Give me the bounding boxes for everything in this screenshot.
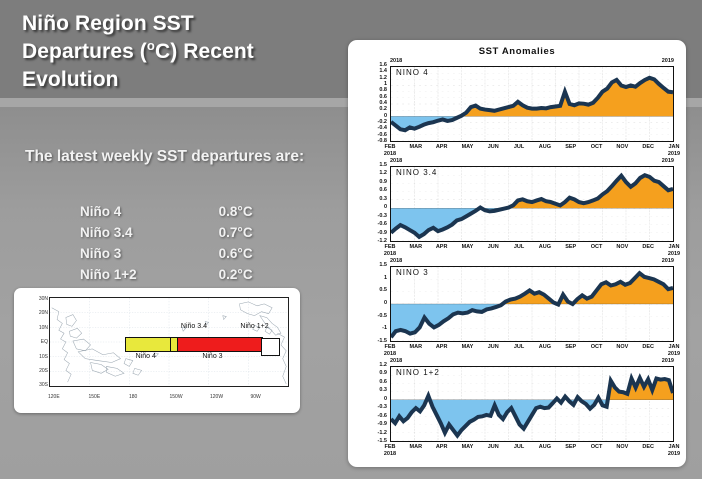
x-tick-month: DEC: [642, 144, 654, 150]
y-tick-label: -0.3: [360, 214, 387, 220]
map-inner: Niño 3.4 Niño 1+2 Niño 4 Niño 3 30N20N10…: [22, 295, 292, 405]
map-y-tick: 20S: [22, 368, 48, 374]
x-tick-month: NOV: [616, 344, 628, 350]
x-tick-label: APR: [431, 244, 453, 251]
x-tick-month: JAN: [668, 244, 679, 250]
x-tick-month: APR: [436, 244, 448, 250]
x-tick-label: NOV: [611, 444, 633, 451]
chart-panel-1: 20182019NINO 3.41.51.20.90.60.30-0.3-0.6…: [360, 158, 676, 260]
x-tick-label: AUG: [534, 244, 556, 251]
x-tick-label: OCT: [586, 344, 608, 351]
map-y-tick: EQ: [22, 339, 48, 345]
x-tick-label: MAR: [405, 144, 427, 151]
lead-text: The latest weekly SST departures are:: [25, 146, 315, 168]
departures-table: Niño 40.8°CNiño 3.40.7°CNiño 30.6°CNiño …: [80, 201, 300, 286]
y-tick-label: -1: [360, 326, 387, 332]
x-tick-month: JAN: [668, 144, 679, 150]
x-tick-label: NOV: [611, 244, 633, 251]
page-title-line3: Evolution: [22, 66, 332, 94]
x-tick-label: OCT: [586, 144, 608, 151]
map-y-tick: 20N: [22, 310, 48, 316]
x-tick-label: SEP: [560, 144, 582, 151]
panel-year-left: 2018: [390, 358, 402, 364]
x-tick-month: FEB: [385, 344, 396, 350]
x-tick-label: AUG: [534, 344, 556, 351]
x-tick-month: OCT: [591, 144, 603, 150]
y-tick-label: -0.9: [360, 422, 387, 428]
y-tick-label: 0.9: [360, 371, 387, 377]
x-tick-month: DEC: [642, 344, 654, 350]
page-title-line1: Niño Region SST: [22, 10, 332, 38]
departure-value: 0.6°C: [169, 243, 300, 264]
x-tick-label: MAY: [456, 444, 478, 451]
x-tick-label: JAN2019: [663, 244, 685, 258]
x-tick-month: JUL: [514, 244, 524, 250]
map-label-nino3: Niño 3: [202, 353, 222, 360]
x-tick-year: 2019: [663, 251, 685, 258]
y-tick-label: 0: [360, 397, 387, 403]
x-tick-year: 2019: [663, 351, 685, 358]
x-tick-year: 2018: [379, 151, 401, 158]
x-tick-month: SEP: [565, 244, 576, 250]
map-label-nino4: Niño 4: [136, 353, 156, 360]
x-tick-month: SEP: [565, 344, 576, 350]
departure-row: Niño 40.8°C: [80, 201, 300, 222]
positive-area: [480, 175, 673, 208]
slide-root: Niño Region SST Departures (oC) Recent E…: [0, 0, 702, 479]
x-tick-month: MAY: [462, 144, 474, 150]
plot-area-0: [390, 66, 674, 142]
departure-row: Niño 3.40.7°C: [80, 222, 300, 243]
y-tick-label: -0.6: [360, 222, 387, 228]
y-tick-label: 0.6: [360, 380, 387, 386]
x-tick-label: DEC: [637, 344, 659, 351]
x-tick-label: FEB2018: [379, 344, 401, 358]
x-tick-label: MAY: [456, 144, 478, 151]
map-y-tick: 30S: [22, 382, 48, 388]
page-title: Niño Region SST Departures (oC) Recent E…: [22, 10, 332, 94]
nino-region-map-card: Niño 3.4 Niño 1+2 Niño 4 Niño 3 30N20N10…: [14, 288, 300, 413]
x-tick-month: SEP: [565, 144, 576, 150]
series-label-2: NINO 3: [396, 268, 429, 277]
x-tick-month: JUN: [488, 144, 499, 150]
y-tick-label: 0.3: [360, 197, 387, 203]
map-x-tick: 150W: [170, 394, 183, 400]
x-tick-month: MAR: [410, 144, 423, 150]
x-tick-month: SEP: [565, 444, 576, 450]
x-tick-month: NOV: [616, 144, 628, 150]
x-tick-year: 2019: [663, 151, 685, 158]
x-tick-label: JAN2019: [663, 344, 685, 358]
x-tick-month: APR: [436, 144, 448, 150]
x-tick-label: APR: [431, 144, 453, 151]
x-tick-label: MAR: [405, 344, 427, 351]
map-x-tick: 90W: [251, 394, 261, 400]
plot-area-2: [390, 266, 674, 342]
y-tick-label: 0.5: [360, 288, 387, 294]
chart-panel-0: 20182019NINO 41.61.41.210.80.60.40.20-0.…: [360, 58, 676, 160]
map-y-tick: 10S: [22, 354, 48, 360]
x-tick-label: AUG: [534, 444, 556, 451]
x-tick-month: FEB: [385, 144, 396, 150]
map-label-nino34: Niño 3.4: [181, 323, 207, 330]
y-tick-label: -0.4: [360, 126, 387, 132]
panel-year-right: 2019: [662, 358, 674, 364]
map-x-tick: 180: [129, 394, 137, 400]
departure-value: 0.7°C: [169, 222, 300, 243]
map-x-tick: 120E: [48, 394, 60, 400]
x-tick-label: OCT: [586, 444, 608, 451]
x-tick-label: APR: [431, 444, 453, 451]
x-tick-label: JUL: [508, 244, 530, 251]
x-tick-year: 2019: [663, 451, 685, 458]
x-tick-label: APR: [431, 344, 453, 351]
x-tick-month: JUN: [488, 244, 499, 250]
x-tick-label: JUL: [508, 444, 530, 451]
chart-title: SST Anomalies: [348, 46, 686, 57]
x-tick-month: MAY: [462, 244, 474, 250]
page-title-line2-a: Departures (: [22, 40, 147, 63]
plot-area-3: [390, 366, 674, 442]
x-tick-year: 2018: [379, 251, 401, 258]
y-tick-label: 0.8: [360, 88, 387, 94]
x-tick-month: MAY: [462, 444, 474, 450]
y-tick-label: -0.5: [360, 314, 387, 320]
page-title-line2: Departures (oC) Recent: [22, 38, 332, 66]
x-tick-label: DEC: [637, 244, 659, 251]
chart-svg-2: [391, 267, 673, 341]
x-tick-label: JUL: [508, 144, 530, 151]
x-tick-month: JUN: [488, 344, 499, 350]
nino12-box: [261, 338, 280, 356]
x-tick-label: JUN: [482, 144, 504, 151]
x-tick-month: MAR: [410, 244, 423, 250]
departure-region: Niño 3: [80, 243, 169, 264]
sst-anomalies-chart-card: SST Anomalies 20182019NINO 41.61.41.210.…: [348, 40, 686, 467]
y-tick-label: 1.2: [360, 363, 387, 369]
departure-region: Niño 3.4: [80, 222, 169, 243]
departure-row: Niño 1+20.2°C: [80, 264, 300, 285]
y-tick-label: -1.2: [360, 431, 387, 437]
x-tick-month: NOV: [616, 444, 628, 450]
x-tick-label: JUN: [482, 444, 504, 451]
departure-region: Niño 1+2: [80, 264, 169, 285]
x-tick-month: AUG: [539, 344, 551, 350]
y-tick-label: 1.5: [360, 163, 387, 169]
x-tick-year: 2018: [379, 451, 401, 458]
x-tick-month: MAR: [410, 444, 423, 450]
nino3-box: [177, 337, 263, 352]
x-tick-label: SEP: [560, 344, 582, 351]
departures-table-body: Niño 40.8°CNiño 3.40.7°CNiño 30.6°CNiño …: [80, 201, 300, 286]
panel-year-right: 2019: [662, 58, 674, 64]
map-x-tick: 150E: [89, 394, 101, 400]
map-plot-area: Niño 3.4 Niño 1+2 Niño 4 Niño 3: [49, 297, 289, 387]
x-tick-label: JAN2019: [663, 144, 685, 158]
x-tick-month: DEC: [642, 444, 654, 450]
x-tick-label: JAN2019: [663, 444, 685, 458]
x-tick-year: 2018: [379, 351, 401, 358]
x-tick-label: SEP: [560, 244, 582, 251]
x-tick-month: FEB: [385, 444, 396, 450]
x-tick-month: JUL: [514, 344, 524, 350]
page-title-line2-b: C) Recent: [155, 40, 254, 63]
x-tick-label: NOV: [611, 144, 633, 151]
x-tick-label: MAY: [456, 344, 478, 351]
y-tick-label: 0: [360, 205, 387, 211]
x-tick-month: MAY: [462, 344, 474, 350]
y-tick-label: 0.9: [360, 180, 387, 186]
x-tick-month: AUG: [539, 244, 551, 250]
plot-area-1: [390, 166, 674, 242]
y-tick-label: 0.6: [360, 188, 387, 194]
panel-year-left: 2018: [390, 58, 402, 64]
panel-year-right: 2019: [662, 158, 674, 164]
x-tick-label: MAY: [456, 244, 478, 251]
x-tick-month: JUL: [514, 144, 524, 150]
x-tick-label: AUG: [534, 144, 556, 151]
x-tick-month: JAN: [668, 444, 679, 450]
x-tick-label: OCT: [586, 244, 608, 251]
departure-value: 0.2°C: [169, 264, 300, 285]
x-tick-label: FEB2018: [379, 444, 401, 458]
x-tick-label: JUN: [482, 244, 504, 251]
x-tick-month: APR: [436, 444, 448, 450]
degree-superscript: o: [147, 38, 155, 53]
x-tick-label: FEB2018: [379, 244, 401, 258]
departure-value: 0.8°C: [169, 201, 300, 222]
y-tick-label: 0.3: [360, 388, 387, 394]
x-tick-month: JAN: [668, 344, 679, 350]
x-tick-label: JUN: [482, 344, 504, 351]
panel-year-left: 2018: [390, 158, 402, 164]
map-label-nino12: Niño 1+2: [240, 323, 268, 330]
x-tick-month: JUL: [514, 444, 524, 450]
x-tick-month: DEC: [642, 244, 654, 250]
x-tick-label: MAR: [405, 444, 427, 451]
departure-row: Niño 30.6°C: [80, 243, 300, 264]
y-tick-label: 1: [360, 276, 387, 282]
x-tick-label: SEP: [560, 444, 582, 451]
y-tick-label: -0.3: [360, 405, 387, 411]
x-tick-label: NOV: [611, 344, 633, 351]
x-tick-month: AUG: [539, 444, 551, 450]
x-tick-month: NOV: [616, 244, 628, 250]
x-tick-month: AUG: [539, 144, 551, 150]
x-tick-label: MAR: [405, 244, 427, 251]
y-tick-label: 1.2: [360, 171, 387, 177]
y-tick-label: 1.5: [360, 263, 387, 269]
x-tick-label: DEC: [637, 444, 659, 451]
chart-svg-0: [391, 67, 673, 141]
chart-svg-1: [391, 167, 673, 241]
y-tick-label: 0: [360, 301, 387, 307]
x-tick-label: JUL: [508, 344, 530, 351]
x-tick-month: OCT: [591, 444, 603, 450]
panel-year-left: 2018: [390, 258, 402, 264]
x-tick-month: FEB: [385, 244, 396, 250]
departure-region: Niño 4: [80, 201, 169, 222]
y-tick-label: 1.2: [360, 76, 387, 82]
y-tick-label: 0.2: [360, 107, 387, 113]
series-label-3: NINO 1+2: [396, 368, 440, 377]
x-tick-month: MAR: [410, 344, 423, 350]
map-x-tick: 120W: [210, 394, 223, 400]
x-tick-label: FEB2018: [379, 144, 401, 158]
x-tick-month: OCT: [591, 344, 603, 350]
chart-panel-2: 20182019NINO 31.510.50-0.5-1-1.5FEB2018M…: [360, 258, 676, 360]
chart-panel-3: 20182019NINO 1+21.20.90.60.30-0.3-0.6-0.…: [360, 358, 676, 460]
y-tick-label: 1.4: [360, 69, 387, 75]
series-label-1: NINO 3.4: [396, 168, 437, 177]
x-tick-label: DEC: [637, 144, 659, 151]
y-tick-label: -0.6: [360, 414, 387, 420]
x-tick-month: OCT: [591, 244, 603, 250]
map-y-tick: 30N: [22, 296, 48, 302]
panel-year-right: 2019: [662, 258, 674, 264]
x-tick-month: APR: [436, 344, 448, 350]
y-tick-label: -0.9: [360, 231, 387, 237]
chart-svg-3: [391, 367, 673, 441]
map-y-tick: 10N: [22, 325, 48, 331]
x-tick-month: JUN: [488, 444, 499, 450]
series-label-0: NINO 4: [396, 68, 429, 77]
